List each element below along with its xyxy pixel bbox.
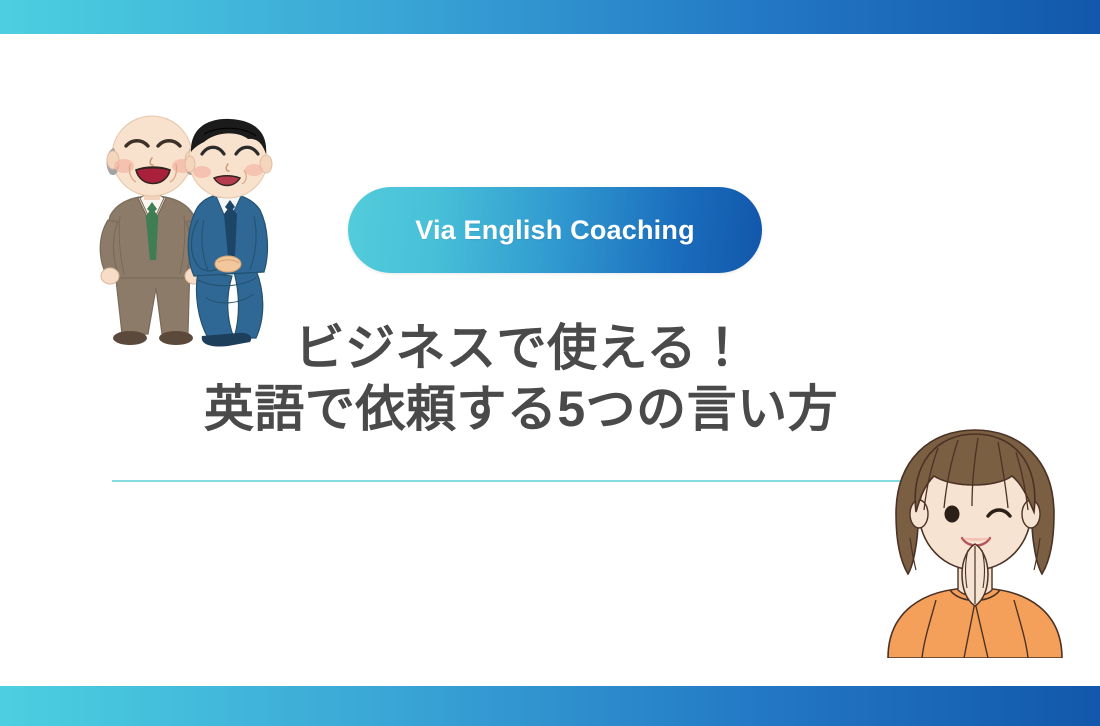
- older-man-figure: [100, 116, 204, 345]
- brand-badge-label: Via English Coaching: [415, 215, 695, 246]
- title-divider: [112, 480, 930, 482]
- brand-badge[interactable]: Via English Coaching: [348, 187, 762, 273]
- page-title-line-1: ビジネスで使える！: [112, 318, 930, 379]
- thumbnail-canvas: Via English Coaching ビジネスで使える！ 英語で依頼する5つ…: [0, 0, 1100, 726]
- two-businessmen-illustration: [78, 112, 310, 352]
- woman-bowing-illustration: [872, 418, 1078, 658]
- top-gradient-band: [0, 0, 1100, 34]
- page-title: ビジネスで使える！ 英語で依頼する5つの言い方: [112, 318, 930, 440]
- bottom-gradient-band: [0, 686, 1100, 726]
- page-title-line-2: 英語で依頼する5つの言い方: [112, 379, 930, 440]
- younger-man-figure: [185, 119, 272, 347]
